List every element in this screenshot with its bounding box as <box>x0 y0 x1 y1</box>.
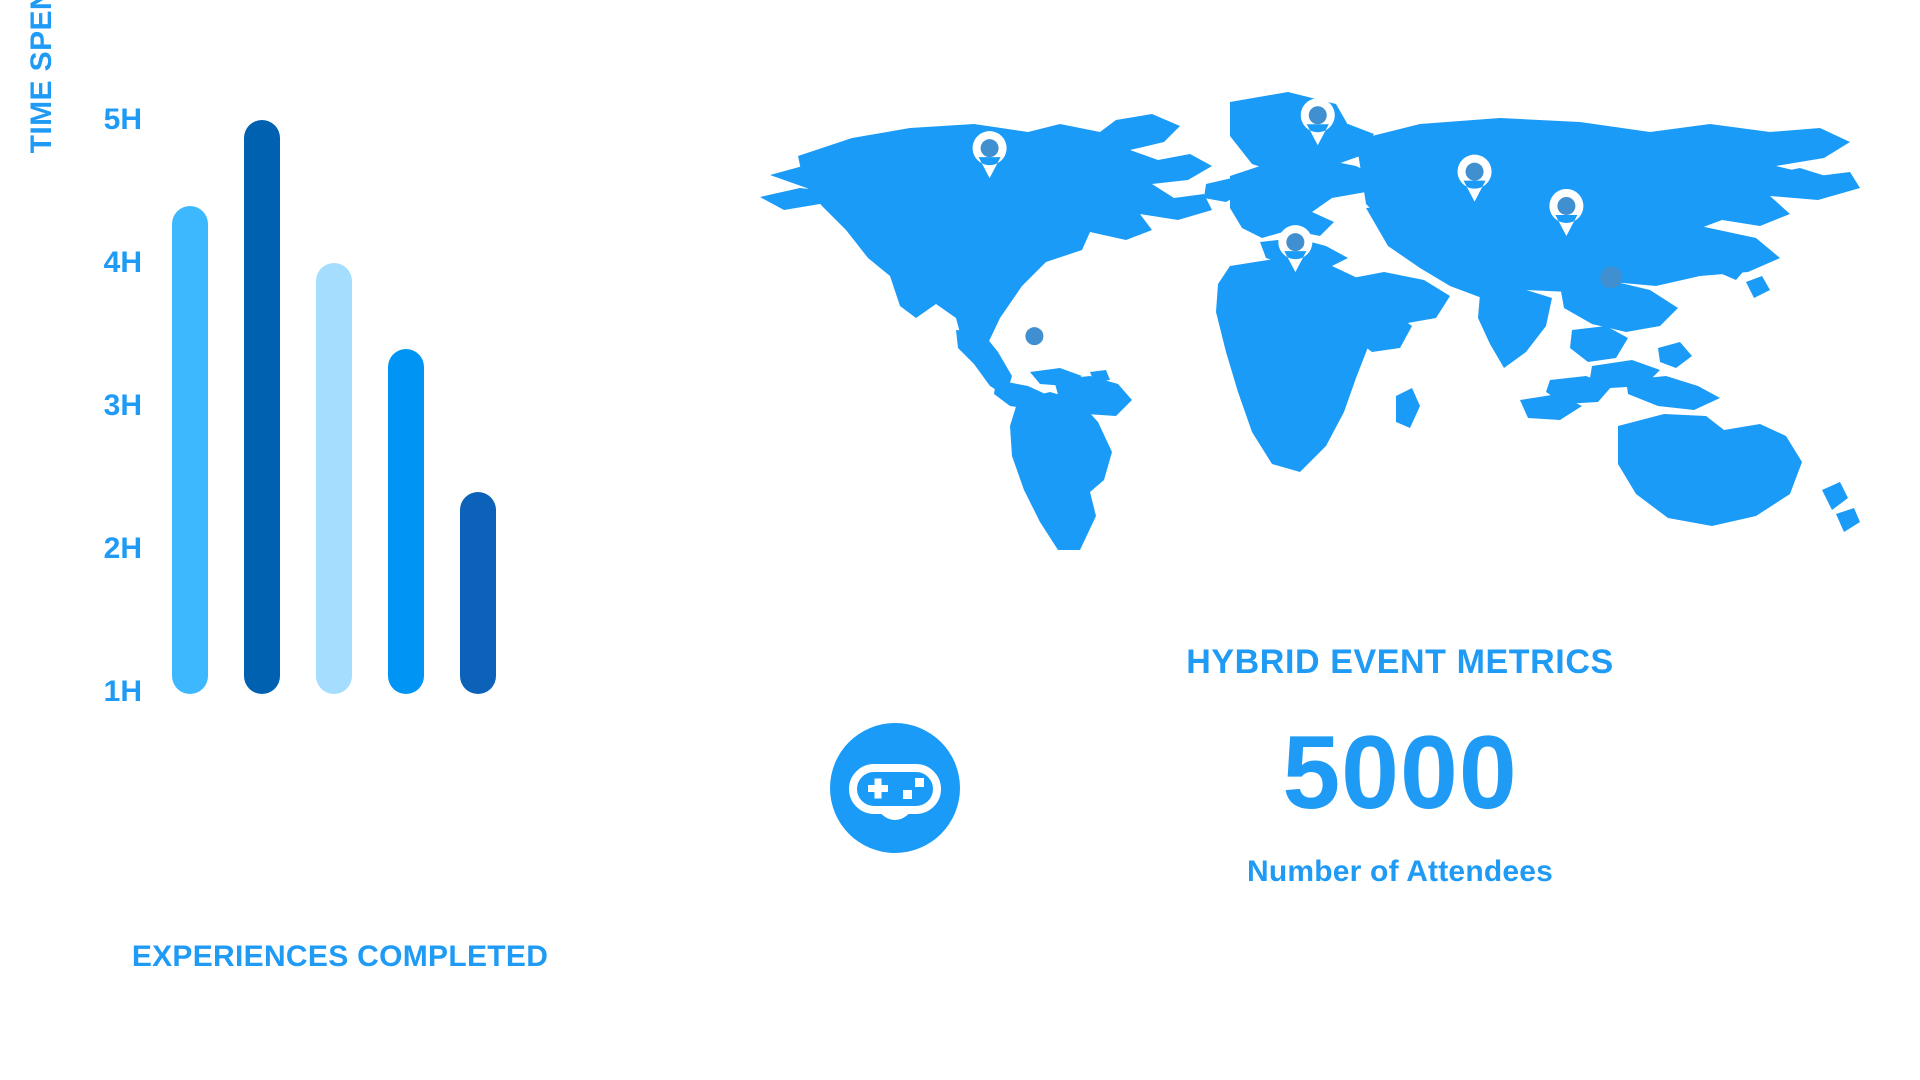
metrics-title: HYBRID EVENT METRICS <box>1020 645 1780 679</box>
y-tick-2h: 2H <box>66 534 142 564</box>
x-axis-title: EXPERIENCES COMPLETED <box>0 940 680 974</box>
bar-chart-panel: TIME SPENT IN THE METAVERSE/ DAY 5H4H3H2… <box>0 0 700 1080</box>
world-map-panel <box>760 80 1880 550</box>
bar-1 <box>172 206 208 694</box>
gamepad-badge <box>827 720 963 856</box>
y-tick-3h: 3H <box>66 391 142 421</box>
pin-south-america <box>1017 319 1051 366</box>
map-pin-center-dot <box>1286 233 1304 251</box>
gamepad-dpad-vertical <box>875 779 882 799</box>
metrics-panel: HYBRID EVENT METRICS 5000 Number of Atte… <box>1020 645 1780 889</box>
map-pin-center-dot <box>1557 197 1575 215</box>
gamepad-button-top <box>915 778 924 787</box>
y-tick-5h: 5H <box>66 105 142 135</box>
map-pin-center-dot <box>1309 106 1327 124</box>
y-tick-4h: 4H <box>66 248 142 278</box>
infographic-canvas: TIME SPENT IN THE METAVERSE/ DAY 5H4H3H2… <box>0 0 1920 1080</box>
gamepad-icon <box>827 720 963 856</box>
bar-5 <box>460 492 496 694</box>
y-axis-tick-column: 5H4H3H2H1H <box>52 0 142 1080</box>
dot-southeast-asia <box>1600 266 1622 288</box>
metrics-caption: Number of Attendees <box>1020 855 1780 889</box>
map-pin-center-dot <box>1025 327 1043 345</box>
map-dot-group <box>1600 266 1622 288</box>
metrics-value: 5000 <box>1020 721 1780 825</box>
bar-3 <box>316 263 352 694</box>
map-pin-center-dot <box>1466 163 1484 181</box>
y-tick-1h: 1H <box>66 677 142 707</box>
bars-area <box>160 0 580 1080</box>
bar-2 <box>244 120 280 694</box>
bar-4 <box>388 349 424 694</box>
gamepad-button-bottom <box>903 790 912 799</box>
world-map-icon <box>760 80 1880 550</box>
map-landmasses <box>760 92 1860 550</box>
map-pin-center-dot <box>981 139 999 157</box>
